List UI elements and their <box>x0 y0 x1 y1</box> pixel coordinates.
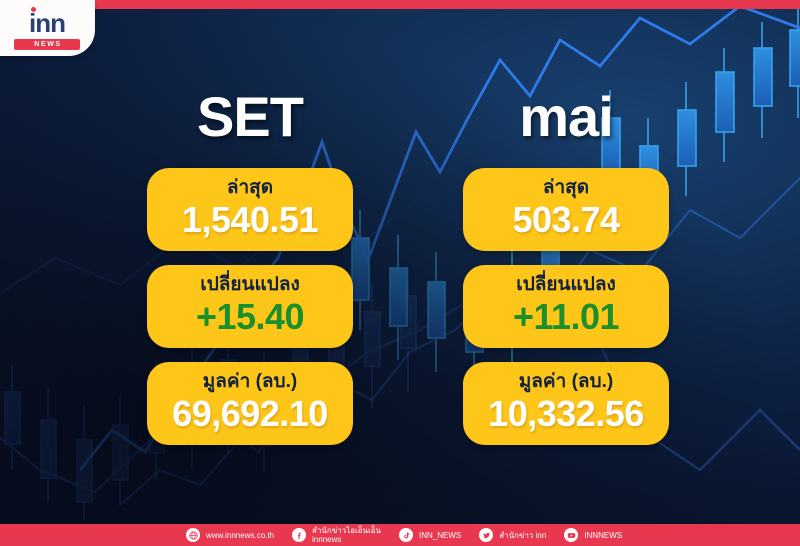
card-value: 10,332.56 <box>469 393 663 434</box>
card-value: 503.74 <box>469 199 663 240</box>
footer-item-youtube[interactable]: INNNEWS <box>564 528 622 542</box>
youtube-icon <box>564 528 578 542</box>
footer-item-facebook[interactable]: สำนักข่าวไอเอ็นเอ็น innnews <box>292 526 381 544</box>
card-label: ล่าสุด <box>469 177 663 199</box>
tiktok-icon <box>399 528 413 542</box>
index-title-set: SET <box>147 86 353 154</box>
card-value: 69,692.10 <box>153 393 347 434</box>
card-mai-value: มูลค่า (ลบ.) 10,332.56 <box>463 362 669 445</box>
card-mai-change: เปลี่ยนแปลง +11.01 <box>463 265 669 348</box>
footer-item-tiktok[interactable]: INN_NEWS <box>399 528 461 542</box>
card-set-change: เปลี่ยนแปลง +15.40 <box>147 265 353 348</box>
facebook-icon <box>292 528 306 542</box>
card-label: ล่าสุด <box>153 177 347 199</box>
card-set-last: ล่าสุด 1,540.51 <box>147 168 353 251</box>
card-value: +11.01 <box>469 296 663 337</box>
footer-item-label: สำนักข่าว inn <box>499 531 546 540</box>
logo-dot-icon <box>31 7 36 12</box>
card-value: +15.40 <box>153 296 347 337</box>
card-set-value: มูลค่า (ลบ.) 69,692.10 <box>147 362 353 445</box>
logo-news-badge: NEWS <box>14 39 80 50</box>
footer-item-label-line2: innnews <box>312 535 381 544</box>
card-label: เปลี่ยนแปลง <box>153 274 347 296</box>
footer-social-bar: www.innnews.co.th สำนักข่าวไอเอ็นเอ็น in… <box>0 524 800 546</box>
footer-item-label: www.innnews.co.th <box>206 531 274 540</box>
index-column-set: SET ล่าสุด 1,540.51 เปลี่ยนแปลง +15.40 ม… <box>147 86 353 445</box>
card-label: มูลค่า (ลบ.) <box>153 371 347 393</box>
background-vignette <box>0 0 800 546</box>
card-value: 1,540.51 <box>153 199 347 240</box>
index-title-mai: mai <box>463 86 669 154</box>
footer-item-label-line1: สำนักข่าวไอเอ็นเอ็น <box>312 526 381 535</box>
twitter-icon <box>479 528 493 542</box>
footer-item-label: สำนักข่าวไอเอ็นเอ็น innnews <box>312 526 381 544</box>
footer-item-label: INN_NEWS <box>419 531 461 540</box>
card-label: เปลี่ยนแปลง <box>469 274 663 296</box>
inn-news-logo: inn NEWS <box>0 0 95 56</box>
graphic-canvas: inn NEWS SET ล่าสุด 1,540.51 เปลี่ยนแปลง… <box>0 0 800 546</box>
card-label: มูลค่า (ลบ.) <box>469 371 663 393</box>
index-column-mai: mai ล่าสุด 503.74 เปลี่ยนแปลง +11.01 มูล… <box>463 86 669 445</box>
footer-item-twitter[interactable]: สำนักข่าว inn <box>479 528 546 542</box>
footer-item-website[interactable]: www.innnews.co.th <box>186 528 274 542</box>
card-mai-last: ล่าสุด 503.74 <box>463 168 669 251</box>
globe-icon <box>186 528 200 542</box>
logo-wordmark: inn <box>29 10 65 36</box>
logo-word-text: inn <box>29 8 65 38</box>
footer-item-label: INNNEWS <box>584 531 622 540</box>
top-accent-bar <box>0 0 800 9</box>
